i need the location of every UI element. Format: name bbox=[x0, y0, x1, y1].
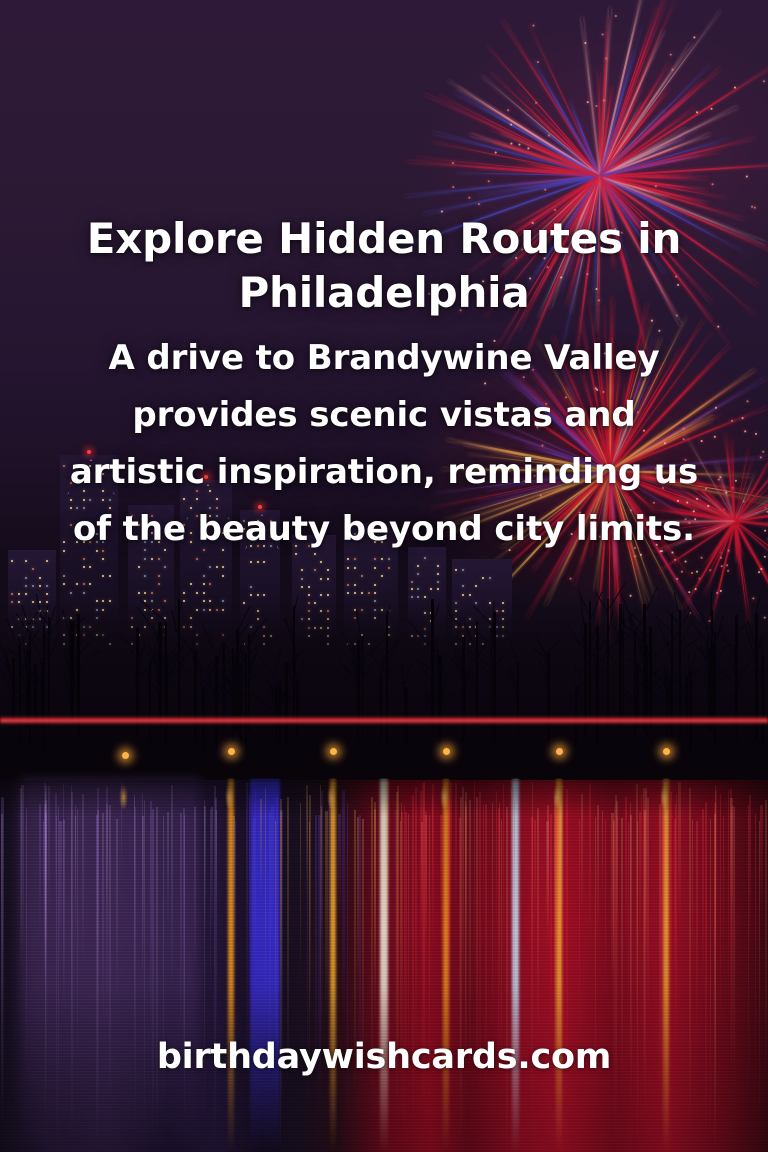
building-window bbox=[411, 588, 413, 590]
building-window bbox=[381, 575, 383, 577]
firework-ray bbox=[600, 175, 670, 198]
building-window bbox=[437, 581, 439, 583]
firework-ray bbox=[516, 88, 600, 176]
building-window bbox=[196, 592, 198, 594]
building-window bbox=[138, 592, 140, 594]
building-window bbox=[374, 592, 376, 594]
firework-spark bbox=[615, 15, 617, 17]
building-window bbox=[144, 592, 146, 594]
firework-ray bbox=[600, 150, 721, 176]
firework-ray bbox=[600, 154, 699, 177]
firework-ray bbox=[599, 107, 696, 177]
building-window bbox=[63, 583, 65, 585]
firework-ray bbox=[600, 94, 691, 176]
firework-ray bbox=[600, 142, 718, 176]
street-lamp bbox=[663, 748, 670, 755]
firework-spark bbox=[518, 144, 520, 146]
firework-ray bbox=[599, 105, 626, 176]
building-window bbox=[11, 593, 13, 595]
building-window bbox=[32, 585, 34, 587]
firework-ray bbox=[493, 140, 601, 177]
firework-ray bbox=[476, 166, 600, 177]
firework-spark bbox=[670, 54, 672, 56]
firework-ray bbox=[600, 11, 721, 176]
building-window bbox=[361, 592, 363, 594]
building-window bbox=[327, 594, 329, 596]
building-window bbox=[209, 566, 211, 568]
firework-ray bbox=[405, 175, 600, 197]
building-window bbox=[102, 558, 104, 560]
building-window bbox=[411, 581, 413, 583]
firework-ray bbox=[599, 51, 635, 176]
tree-branch bbox=[174, 628, 194, 654]
firework-ray bbox=[600, 137, 732, 176]
firework-ray bbox=[490, 127, 600, 177]
firework-ray bbox=[599, 19, 608, 176]
building-window bbox=[25, 577, 27, 579]
firework-ray bbox=[600, 175, 688, 179]
building-window bbox=[25, 585, 27, 587]
firework-ray bbox=[599, 27, 642, 176]
building-window bbox=[83, 566, 85, 568]
firework-spark bbox=[468, 197, 470, 199]
building-window bbox=[70, 592, 72, 594]
tree-silhouette bbox=[643, 604, 646, 732]
tree-silhouette bbox=[285, 662, 288, 743]
tree-silhouette bbox=[547, 653, 550, 747]
building-window bbox=[308, 586, 310, 588]
firework-spark bbox=[510, 142, 512, 144]
tree-branch bbox=[477, 632, 491, 644]
building-window bbox=[437, 565, 439, 567]
firework-ray bbox=[423, 175, 600, 215]
firework-ray bbox=[432, 141, 600, 176]
firework-ray bbox=[414, 156, 600, 176]
building-window bbox=[250, 561, 252, 563]
firework-ray bbox=[598, 71, 601, 176]
building-window bbox=[263, 594, 265, 596]
tree-branch bbox=[509, 640, 517, 659]
building-window bbox=[347, 592, 349, 594]
firework-ray bbox=[511, 175, 601, 187]
firework-spark bbox=[672, 69, 674, 71]
building-window bbox=[411, 596, 413, 598]
building-window bbox=[417, 588, 419, 590]
page-title: Explore Hidden Routes in Philadelphia bbox=[50, 212, 718, 320]
tree-branch bbox=[437, 646, 438, 665]
firework-spark bbox=[452, 186, 454, 188]
tree-branch bbox=[137, 606, 159, 635]
tree-silhouette bbox=[762, 657, 764, 746]
building-window bbox=[158, 575, 160, 577]
firework-ray bbox=[599, 41, 693, 176]
firework-ray bbox=[456, 172, 601, 176]
tree-branch bbox=[6, 619, 19, 649]
firework-spark bbox=[527, 147, 529, 149]
building-window bbox=[417, 565, 419, 567]
building-window bbox=[216, 566, 218, 568]
building-window bbox=[83, 583, 85, 585]
building-window bbox=[76, 583, 78, 585]
tree-branch bbox=[202, 623, 215, 652]
firework-ray bbox=[600, 163, 768, 177]
firework-ray bbox=[600, 175, 683, 190]
firework-ray bbox=[599, 86, 671, 176]
building-window bbox=[39, 585, 41, 587]
building-window bbox=[138, 566, 140, 568]
building-window bbox=[257, 561, 259, 563]
firework-ray bbox=[454, 91, 600, 177]
building-window bbox=[196, 558, 198, 560]
building-window bbox=[347, 558, 349, 560]
firework-spark bbox=[602, 33, 604, 35]
street-lamp bbox=[556, 748, 563, 755]
tree-branch bbox=[572, 662, 584, 686]
tree-branch bbox=[733, 644, 735, 675]
tree-silhouette bbox=[293, 606, 295, 726]
firework-spark bbox=[763, 80, 765, 82]
building-window bbox=[39, 577, 41, 579]
firework-ray bbox=[501, 19, 601, 176]
firework-spark bbox=[696, 111, 698, 113]
firework-ray bbox=[600, 175, 726, 199]
firework-spark bbox=[544, 189, 546, 191]
building-window bbox=[347, 584, 349, 586]
firework-ray bbox=[600, 175, 705, 204]
tree-silhouette bbox=[362, 636, 364, 743]
firework-ray bbox=[512, 166, 600, 177]
tree-branch bbox=[179, 662, 194, 676]
firework-spark bbox=[711, 108, 713, 110]
tree-silhouette bbox=[19, 642, 21, 747]
building-window bbox=[368, 592, 370, 594]
firework-ray bbox=[532, 59, 601, 177]
firework-ray bbox=[537, 139, 601, 177]
building-window bbox=[462, 585, 464, 587]
building-window bbox=[462, 569, 464, 571]
tree-branch bbox=[42, 618, 61, 647]
building-window bbox=[203, 575, 205, 577]
firework-ray bbox=[599, 79, 703, 176]
firework-ray bbox=[457, 86, 601, 177]
building-window bbox=[388, 558, 390, 560]
building-window bbox=[437, 573, 439, 575]
firework-ray bbox=[599, 0, 670, 176]
firework-ray bbox=[600, 136, 684, 177]
tree-branch bbox=[685, 678, 687, 700]
firework-ray bbox=[546, 117, 601, 176]
firework-spark bbox=[548, 134, 550, 136]
building-window bbox=[455, 569, 457, 571]
building-window bbox=[301, 578, 303, 580]
firework-ray bbox=[600, 131, 699, 176]
firework-spark bbox=[655, 185, 657, 187]
building-window bbox=[25, 593, 27, 595]
building-window bbox=[164, 566, 166, 568]
firework-ray bbox=[599, 7, 611, 176]
building-window bbox=[158, 583, 160, 585]
firework-spark bbox=[507, 109, 509, 111]
building-window bbox=[308, 594, 310, 596]
building-window bbox=[374, 567, 376, 569]
building-window bbox=[183, 592, 185, 594]
firework-spark bbox=[603, 99, 605, 101]
building-window bbox=[11, 560, 13, 562]
building-window bbox=[83, 592, 85, 594]
building-window bbox=[388, 567, 390, 569]
building-window bbox=[190, 583, 192, 585]
firework-ray bbox=[529, 164, 600, 177]
building-window bbox=[327, 578, 329, 580]
firework-spark bbox=[554, 209, 556, 211]
building-window bbox=[83, 558, 85, 560]
building-window bbox=[469, 594, 471, 596]
firework-spark bbox=[537, 61, 539, 63]
firework-ray bbox=[423, 93, 600, 176]
building-window bbox=[203, 592, 205, 594]
tree-branch bbox=[164, 623, 166, 643]
tree-branch bbox=[275, 647, 283, 675]
building-window bbox=[46, 593, 48, 595]
building-window bbox=[301, 586, 303, 588]
firework-ray bbox=[526, 143, 600, 177]
tree-silhouette bbox=[714, 632, 716, 743]
building-window bbox=[320, 578, 322, 580]
firework-spark bbox=[488, 180, 490, 182]
firework-spark bbox=[605, 57, 607, 59]
firework-spark bbox=[587, 101, 589, 103]
firework-ray bbox=[581, 17, 601, 176]
tree-silhouette bbox=[12, 658, 14, 722]
tree-silhouette bbox=[476, 621, 478, 725]
firework-spark bbox=[717, 326, 719, 328]
building-window bbox=[63, 575, 65, 577]
building-window bbox=[263, 561, 265, 563]
tree-branch bbox=[463, 622, 476, 649]
street-lamp bbox=[228, 748, 235, 755]
tree-branch bbox=[247, 619, 268, 641]
building-window bbox=[417, 596, 419, 598]
building-window bbox=[354, 558, 356, 560]
tree-branch bbox=[599, 666, 619, 681]
firework-ray bbox=[482, 75, 601, 176]
building-window bbox=[354, 584, 356, 586]
firework-ray bbox=[477, 175, 600, 197]
building-window bbox=[347, 567, 349, 569]
building-window bbox=[320, 594, 322, 596]
tree-silhouette bbox=[596, 626, 599, 744]
firework-ray bbox=[525, 107, 600, 177]
building-window bbox=[437, 588, 439, 590]
firework-ray bbox=[600, 133, 711, 177]
building-window bbox=[482, 577, 484, 579]
tree-silhouette bbox=[607, 599, 609, 728]
building-window bbox=[151, 592, 153, 594]
building-window bbox=[374, 558, 376, 560]
tree-branch bbox=[403, 663, 413, 686]
building-window bbox=[354, 592, 356, 594]
firework-ray bbox=[600, 106, 738, 177]
tree-branch bbox=[407, 619, 432, 647]
building-window bbox=[462, 594, 464, 596]
firework-ray bbox=[600, 60, 768, 176]
firework-ray bbox=[599, 0, 648, 176]
card-message: A drive to Brandywine Valley provides sc… bbox=[60, 330, 708, 558]
shoreline-treeline bbox=[0, 600, 768, 790]
building-window bbox=[144, 575, 146, 577]
building-window bbox=[89, 583, 91, 585]
firework-spark bbox=[734, 87, 736, 89]
firework-spark bbox=[596, 105, 598, 107]
building-window bbox=[222, 566, 224, 568]
building-window bbox=[314, 569, 316, 571]
firework-spark bbox=[535, 102, 537, 104]
firework-ray bbox=[500, 132, 601, 177]
firework-ray bbox=[519, 175, 600, 191]
firework-ray bbox=[600, 175, 709, 204]
firework-ray bbox=[600, 109, 666, 176]
firework-ray bbox=[599, 1, 675, 176]
firework-ray bbox=[600, 146, 683, 176]
building-window bbox=[354, 567, 356, 569]
building-window bbox=[203, 583, 205, 585]
firework-ray bbox=[568, 100, 601, 176]
building-window bbox=[222, 575, 224, 577]
building-window bbox=[89, 566, 91, 568]
firework-spark bbox=[510, 124, 512, 126]
highway-light-trail bbox=[0, 716, 768, 725]
site-watermark: birthdaywishcards.com bbox=[0, 1034, 768, 1080]
building-window bbox=[46, 585, 48, 587]
building-window bbox=[301, 569, 303, 571]
tree-branch bbox=[449, 614, 462, 627]
building-window bbox=[361, 575, 363, 577]
firework-ray bbox=[599, 67, 721, 177]
tree-branch bbox=[119, 636, 136, 649]
firework-spark bbox=[712, 183, 714, 185]
firework-ray bbox=[486, 45, 600, 176]
building-window bbox=[109, 575, 111, 577]
firework-spark bbox=[693, 36, 695, 38]
firework-spark bbox=[452, 162, 454, 164]
firework-ray bbox=[600, 93, 665, 176]
firework-ray bbox=[489, 71, 600, 176]
firework-ray bbox=[518, 161, 600, 177]
street-lamp bbox=[330, 748, 337, 755]
tree-branch bbox=[140, 600, 165, 621]
firework-ray bbox=[599, 87, 643, 177]
building-window bbox=[320, 561, 322, 563]
tree-silhouette bbox=[29, 634, 31, 747]
firework-ray bbox=[438, 94, 600, 176]
tree-branch bbox=[546, 637, 561, 654]
building-window bbox=[475, 585, 477, 587]
building-window bbox=[25, 560, 27, 562]
firework-spark bbox=[746, 175, 748, 177]
building-window bbox=[18, 593, 20, 595]
building-window bbox=[381, 558, 383, 560]
tree-silhouette bbox=[386, 615, 388, 746]
firework-spark bbox=[495, 151, 497, 153]
building-window bbox=[250, 586, 252, 588]
street-lamp bbox=[122, 752, 129, 759]
water-shading-overlay bbox=[0, 780, 768, 1152]
firework-ray bbox=[599, 62, 670, 176]
building-window bbox=[102, 575, 104, 577]
firework-ray bbox=[599, 86, 613, 176]
firework-ray bbox=[600, 137, 755, 177]
firework-spark bbox=[584, 42, 586, 44]
firework-ray bbox=[599, 102, 643, 176]
firework-ray bbox=[600, 101, 649, 176]
firework-ray bbox=[522, 114, 600, 177]
firework-ray bbox=[470, 134, 600, 177]
firework-spark bbox=[532, 25, 534, 27]
firework-ray bbox=[600, 174, 693, 176]
firework-spark bbox=[478, 203, 480, 205]
building-window bbox=[257, 594, 259, 596]
firework-ray bbox=[468, 132, 600, 176]
firework-spark bbox=[754, 207, 756, 209]
street-lamp bbox=[443, 748, 450, 755]
building-window bbox=[489, 577, 491, 579]
firework-ray bbox=[447, 79, 600, 176]
firework-ray bbox=[600, 175, 709, 191]
tree-silhouette bbox=[149, 659, 151, 742]
firework-ray bbox=[600, 64, 712, 176]
firework-ray bbox=[433, 132, 600, 176]
firework-spark bbox=[751, 206, 753, 208]
firework-ray bbox=[600, 175, 708, 180]
firework-ray bbox=[599, 128, 686, 177]
firework-ray bbox=[599, 6, 657, 176]
firework-ray bbox=[494, 141, 600, 177]
building-window bbox=[327, 569, 329, 571]
building-window bbox=[417, 573, 419, 575]
building-window bbox=[209, 583, 211, 585]
firework-ray bbox=[485, 104, 601, 177]
building-window bbox=[424, 596, 426, 598]
building-window bbox=[46, 560, 48, 562]
tree-branch bbox=[622, 629, 623, 647]
building-window bbox=[250, 594, 252, 596]
firework-ray bbox=[599, 30, 664, 177]
greeting-card: Explore Hidden Routes in Philadelphia A … bbox=[0, 0, 768, 1152]
firework-ray bbox=[599, 0, 668, 176]
tree-branch bbox=[28, 612, 38, 625]
firework-ray bbox=[529, 24, 601, 176]
building-window bbox=[430, 588, 432, 590]
firework-ray bbox=[406, 160, 600, 177]
building-window bbox=[32, 568, 34, 570]
building-window bbox=[374, 584, 376, 586]
